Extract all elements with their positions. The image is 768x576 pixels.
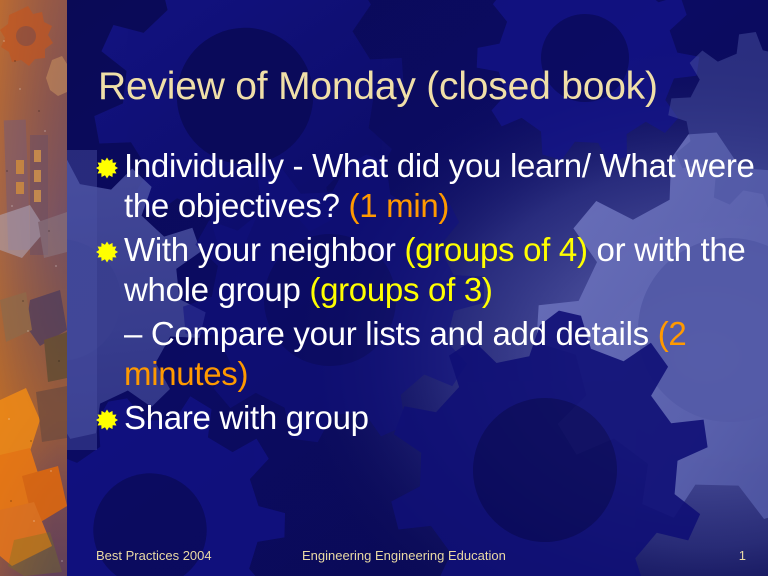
bullet-segment-accent: (groups of 4) — [404, 231, 587, 268]
bullet-segment: – Compare your lists and add details — [124, 315, 658, 352]
bullet-item: With your neighbor (groups of 4) or with… — [96, 230, 756, 310]
bullet-segment: With your neighbor — [124, 231, 404, 268]
bullet-segment-accent: (1 min) — [349, 187, 450, 224]
bullet-text: Share with group — [124, 398, 756, 438]
bullet-item: Individually - What did you learn/ What … — [96, 146, 756, 226]
slide-content: Review of Monday (closed book) Individua… — [0, 0, 768, 576]
bullet-text: Individually - What did you learn/ What … — [124, 146, 756, 226]
presentation-slide: Review of Monday (closed book) Individua… — [0, 0, 768, 576]
bullet-segment: Share with group — [124, 399, 369, 436]
sunburst-bullet-icon — [96, 398, 124, 431]
bullet-segment-accent: (groups of 3) — [309, 271, 492, 308]
footer-center-text: Engineering Engineering Education — [302, 546, 506, 566]
sunburst-bullet-icon — [96, 230, 124, 263]
bullet-list: Individually - What did you learn/ What … — [96, 146, 756, 442]
slide-footer: Best Practices 2004 Engineering Engineer… — [0, 546, 768, 566]
sub-bullet-text: – Compare your lists and add details (2 … — [124, 314, 756, 394]
sunburst-bullet-icon — [96, 146, 124, 179]
bullet-text: With your neighbor (groups of 4) or with… — [124, 230, 756, 310]
sub-bullet-item: – Compare your lists and add details (2 … — [124, 314, 756, 394]
bullet-item: Share with group — [96, 398, 756, 438]
slide-number: 1 — [739, 546, 746, 566]
slide-title: Review of Monday (closed book) — [98, 64, 748, 110]
footer-left-text: Best Practices 2004 — [96, 546, 212, 566]
